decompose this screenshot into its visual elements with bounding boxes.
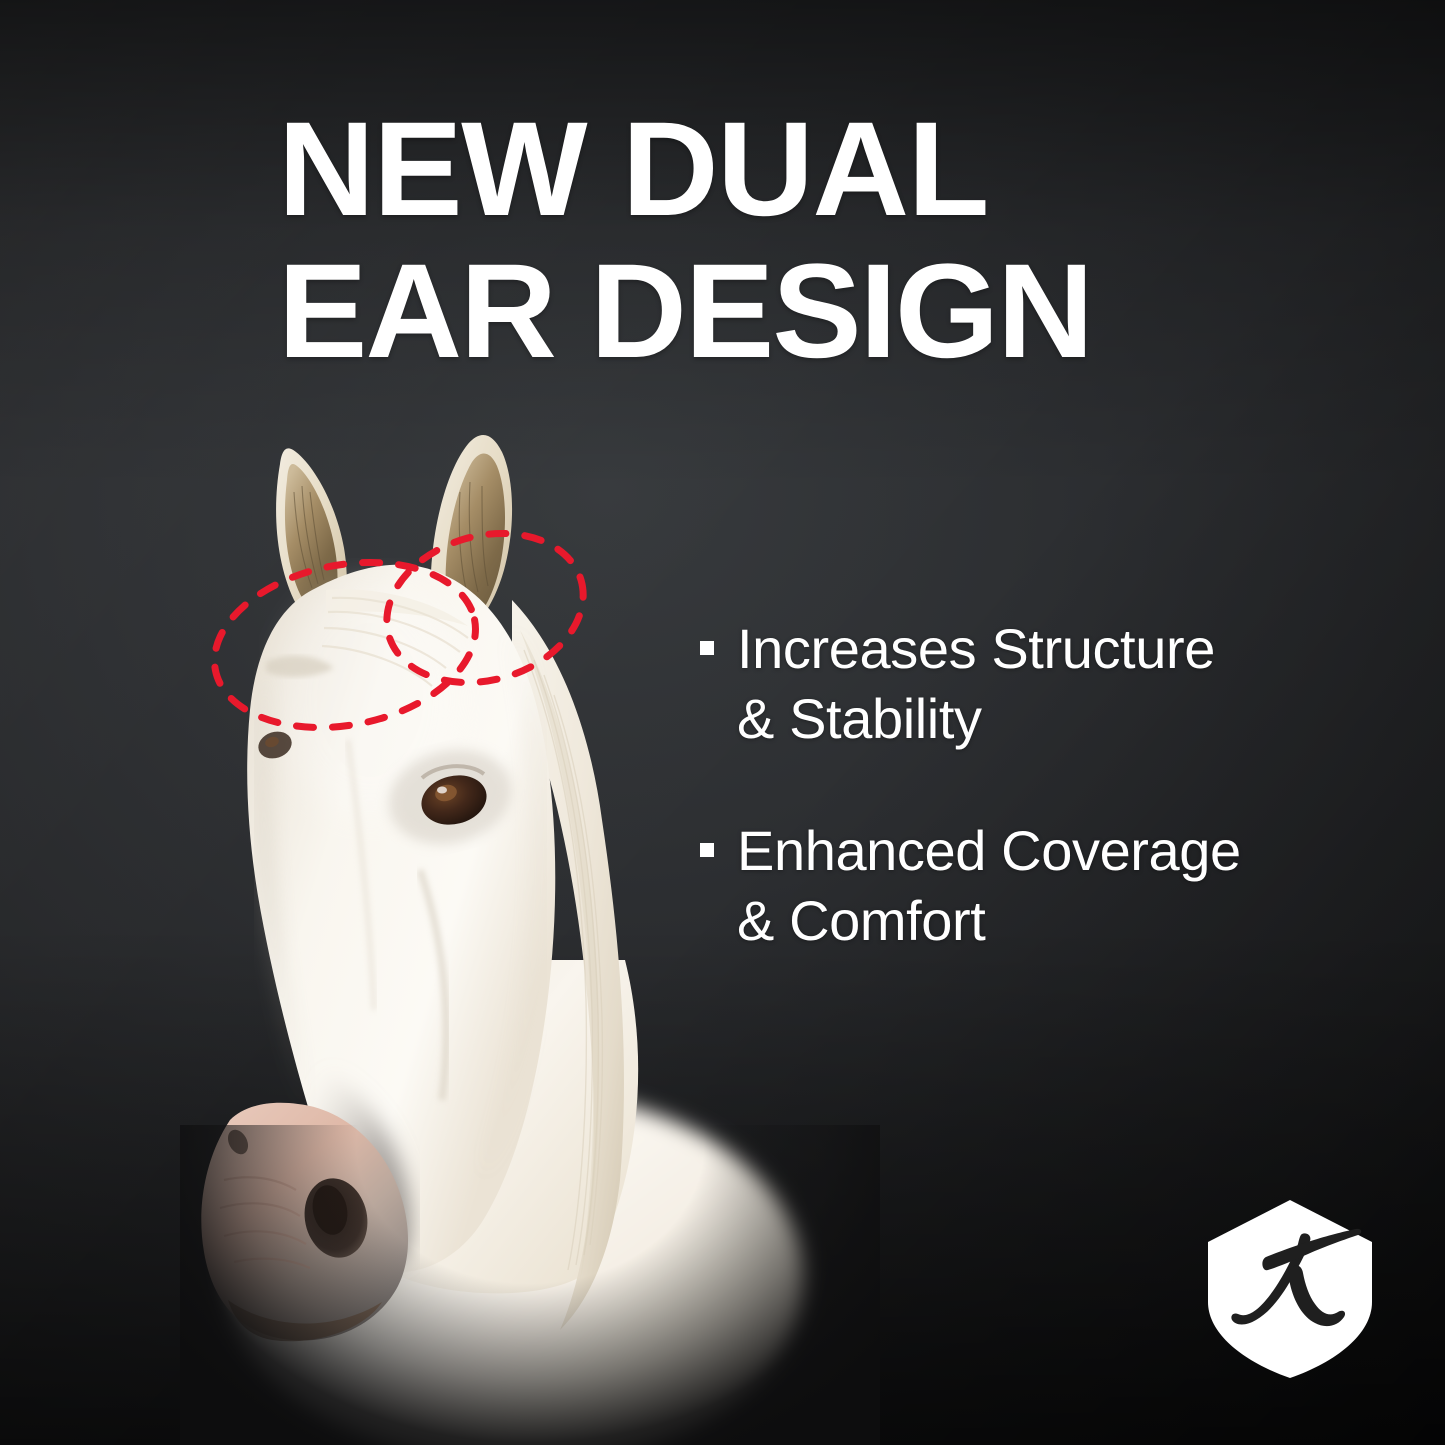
list-item: Increases Structure & Stability xyxy=(700,614,1360,754)
headline-line-2: EAR DESIGN xyxy=(278,250,1258,374)
bullet-1-line-2: & Stability xyxy=(737,684,1215,754)
shield-shape xyxy=(1208,1200,1372,1378)
headline-line-1: NEW DUAL xyxy=(278,108,1258,232)
list-item: Enhanced Coverage & Comfort xyxy=(700,816,1360,956)
ad-canvas: NEW DUAL EAR DESIGN xyxy=(0,0,1445,1445)
bullet-1-line-1: Increases Structure xyxy=(737,614,1215,684)
square-bullet-icon xyxy=(700,641,714,655)
square-bullet-icon xyxy=(700,843,714,857)
feature-list: Increases Structure & Stability Enhanced… xyxy=(700,614,1360,1018)
headline: NEW DUAL EAR DESIGN xyxy=(278,108,1258,374)
brand-logo xyxy=(1202,1198,1378,1380)
bullet-2-line-1: Enhanced Coverage xyxy=(737,816,1241,886)
bullet-text: Increases Structure & Stability xyxy=(737,614,1215,754)
shield-logo-icon xyxy=(1202,1198,1378,1380)
bullet-text: Enhanced Coverage & Comfort xyxy=(737,816,1241,956)
bullet-2-line-2: & Comfort xyxy=(737,886,1241,956)
